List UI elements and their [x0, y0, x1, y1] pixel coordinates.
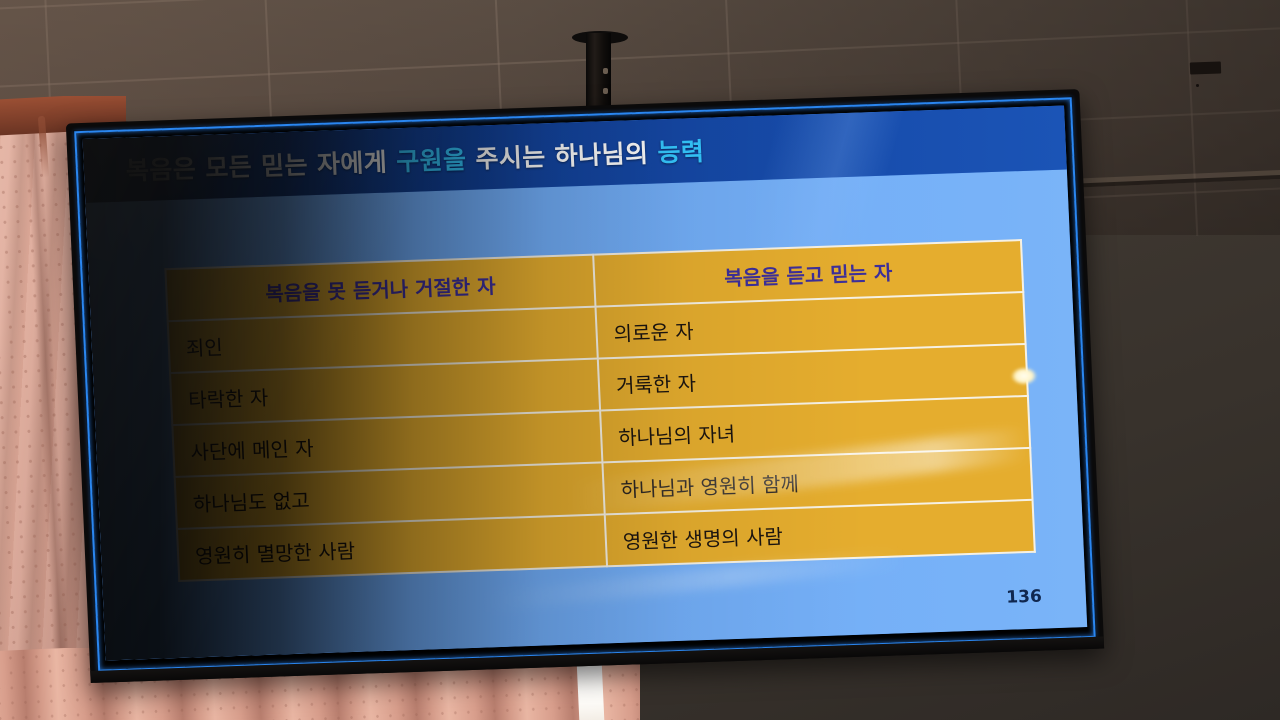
comparison-table: 복음을 못 듣거나 거절한 자복음을 듣고 믿는 자죄인의로운 자타락한 자거룩… — [164, 239, 1036, 582]
presentation-slide: 복음은 모든 믿는 자에게 구원을 주시는 하나님의 능력 복음을 못 듣거나 … — [83, 106, 1088, 661]
mount-bolt-icon — [603, 88, 608, 94]
air-vent-icon — [1190, 61, 1221, 74]
wall-screw-icon — [1196, 84, 1199, 87]
page-number: 136 — [1006, 587, 1042, 608]
window-light-gap — [577, 659, 605, 720]
television[interactable]: 복음은 모든 믿는 자에게 구원을 주시는 하나님의 능력 복음을 못 듣거나 … — [66, 89, 1104, 683]
slide-title: 복음은 모든 믿는 자에게 구원을 주시는 하나님의 능력 — [125, 132, 705, 188]
title-segment-1-highlight: 구원을 — [396, 145, 467, 176]
title-segment-3-highlight: 능력 — [657, 137, 705, 168]
mount-bolt-icon — [603, 68, 608, 74]
tv-bezel: 복음은 모든 믿는 자에게 구원을 주시는 하나님의 능력 복음을 못 듣거나 … — [73, 96, 1097, 672]
title-segment-0: 복음은 모든 믿는 자에게 — [125, 147, 397, 185]
room-scene: 복음은 모든 믿는 자에게 구원을 주시는 하나님의 능력 복음을 못 듣거나 … — [0, 0, 1280, 720]
title-segment-2: 주시는 하나님의 — [466, 138, 658, 173]
